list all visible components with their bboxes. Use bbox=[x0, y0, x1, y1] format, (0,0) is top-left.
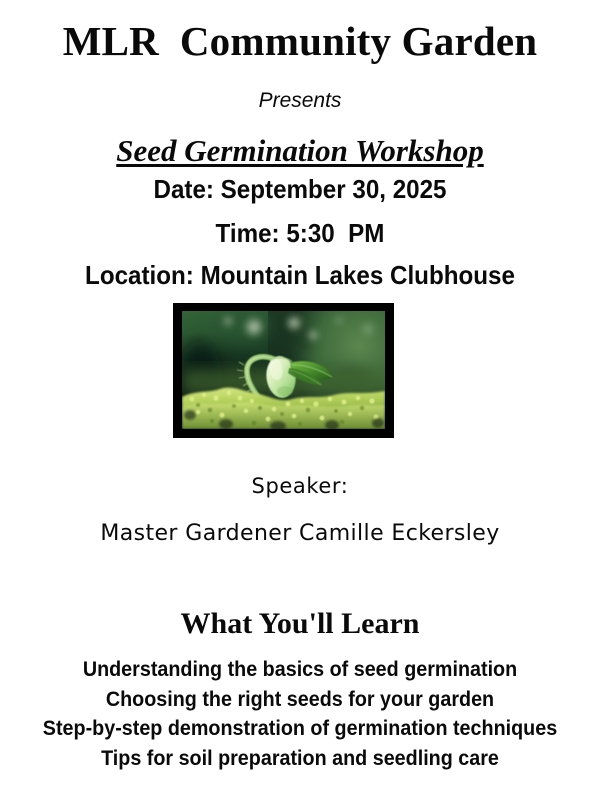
list-item: Understanding the basics of seed germina… bbox=[18, 655, 582, 685]
list-item: Tips for soil preparation and seedling c… bbox=[18, 744, 582, 774]
presents-label: Presents bbox=[0, 88, 600, 114]
event-time: Time: 5:30 PM bbox=[21, 218, 579, 248]
learn-items-list: Understanding the basics of seed germina… bbox=[0, 655, 600, 773]
event-date: Date: September 30, 2025 bbox=[21, 174, 579, 204]
seedling-sprout-photo bbox=[182, 311, 385, 429]
speaker-label: Speaker: bbox=[0, 473, 600, 499]
event-title-text: Seed Germination Workshop bbox=[116, 133, 483, 168]
learn-section-heading: What You'll Learn bbox=[0, 607, 600, 641]
event-flyer: MLR Community Garden Presents Seed Germi… bbox=[0, 0, 600, 790]
event-location: Location: Mountain Lakes Clubhouse bbox=[21, 260, 579, 290]
organization-title: MLR Community Garden bbox=[0, 18, 600, 64]
speaker-name: Master Gardener Camille Eckersley bbox=[0, 520, 600, 548]
event-title: Seed Germination Workshop bbox=[0, 133, 600, 169]
seedling-photo-frame bbox=[173, 303, 394, 438]
list-item: Choosing the right seeds for your garden bbox=[18, 685, 582, 715]
list-item: Step-by-step demonstration of germinatio… bbox=[18, 714, 582, 744]
